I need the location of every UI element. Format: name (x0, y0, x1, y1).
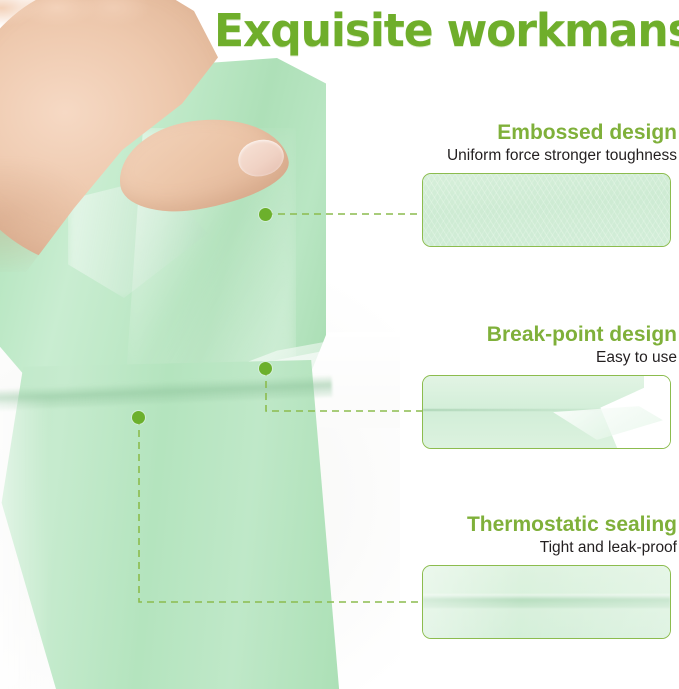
product-infographic: Exquisite workmanship Embossed design Un… (0, 0, 679, 689)
knuckles (0, 0, 154, 26)
page-title: Exquisite workmanship (214, 4, 670, 58)
feature-subtitle-embossed: Uniform force stronger toughness (422, 146, 677, 166)
bag-left-shadow (0, 400, 50, 689)
feature-subtitle-break-point: Easy to use (422, 348, 677, 368)
bag-lower-body (0, 360, 340, 689)
feature-subtitle-sealing: Tight and leak-proof (422, 538, 677, 558)
feature-heading-embossed: Embossed design (422, 120, 677, 146)
break-point-perforation (423, 409, 599, 411)
embossed-texture (423, 174, 670, 246)
marker-dot-sealing[interactable] (132, 411, 145, 424)
feature-callout-embossed: Embossed design Uniform force stronger t… (422, 120, 677, 247)
feature-detail-image-sealing (422, 565, 671, 639)
feature-callout-sealing: Thermostatic sealing Tight and leak-proo… (422, 512, 677, 639)
feature-detail-image-break-point (422, 375, 671, 449)
feature-detail-image-embossed (422, 173, 671, 247)
feature-heading-sealing: Thermostatic sealing (422, 512, 677, 538)
marker-dot-embossed[interactable] (259, 208, 272, 221)
feature-callout-break-point: Break-point design Easy to use (422, 322, 677, 449)
seal-sheen (423, 566, 670, 638)
marker-dot-break-point[interactable] (259, 362, 272, 375)
feature-heading-break-point: Break-point design (422, 322, 677, 348)
product-photo (0, 0, 400, 689)
